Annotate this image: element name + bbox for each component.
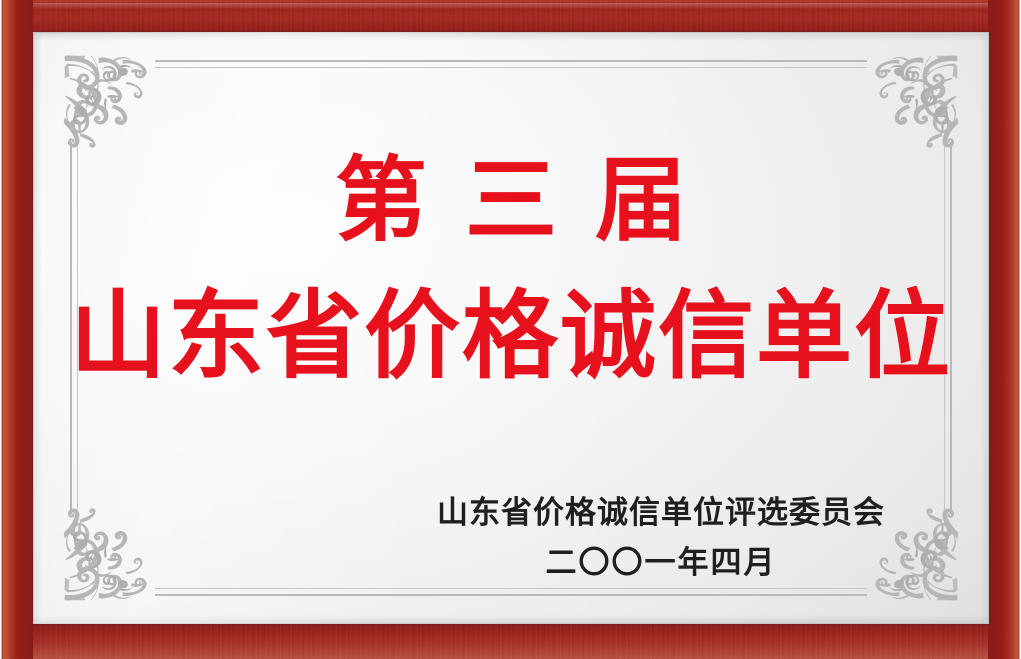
corner-ornament-top-left-icon xyxy=(61,52,157,148)
rule-bottom-outer xyxy=(155,594,867,596)
wood-grain-bottom xyxy=(0,624,1021,659)
title-line-1: 第三届 xyxy=(33,154,989,246)
wood-grain-top xyxy=(0,0,1021,33)
frame-rail-left xyxy=(0,0,33,659)
title-line-2: 山东省价格诚信单位 xyxy=(33,288,989,384)
silver-plate: 第三届 山东省价格诚信单位 山东省价格诚信单位评选委员会 二〇〇一年四月 xyxy=(33,32,989,624)
issuing-organization: 山东省价格诚信单位评选委员会 xyxy=(437,498,885,529)
frame-highlight xyxy=(0,3,1021,9)
corner-ornament-top-right-icon xyxy=(865,52,961,148)
signature-block: 山东省价格诚信单位评选委员会 二〇〇一年四月 xyxy=(33,498,989,579)
plaque-title: 第三届 山东省价格诚信单位 xyxy=(33,154,989,384)
issue-date: 二〇〇一年四月 xyxy=(437,548,885,579)
frame-rail-right xyxy=(988,0,1021,659)
award-plaque: 第三届 山东省价格诚信单位 山东省价格诚信单位评选委员会 二〇〇一年四月 xyxy=(0,0,1021,659)
rule-bottom-inner xyxy=(155,588,867,589)
rule-top-inner xyxy=(155,67,867,68)
rule-top-outer xyxy=(155,60,867,62)
